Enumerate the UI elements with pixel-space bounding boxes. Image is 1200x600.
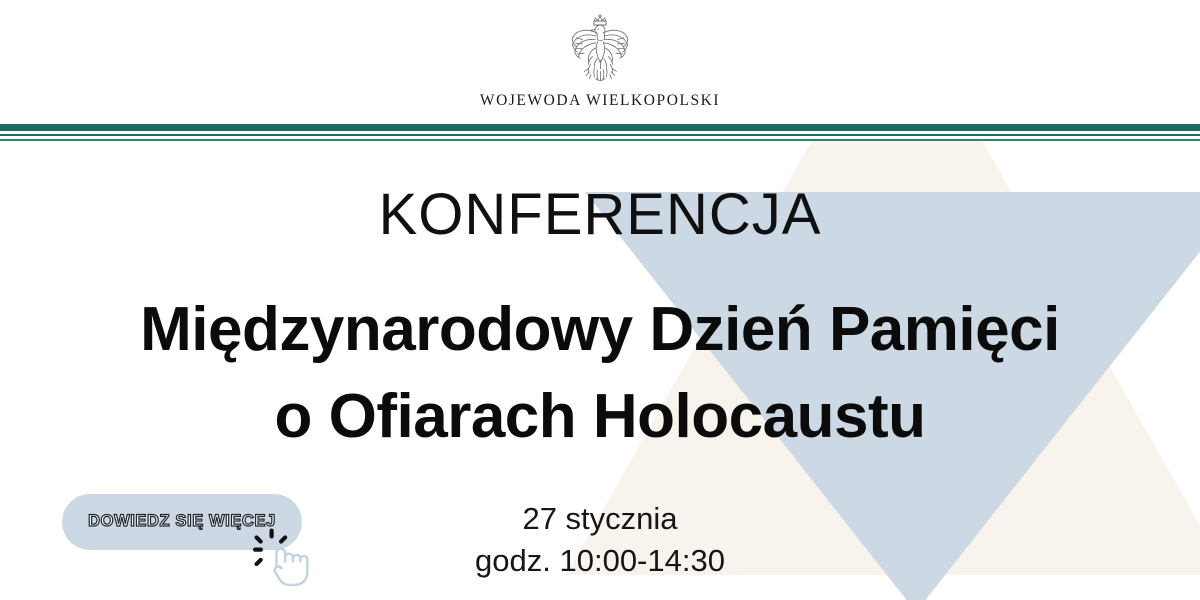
authority-label: WOJEWODA WIELKOPOLSKI (0, 92, 1200, 110)
header: WOJEWODA WIELKOPOLSKI (0, 0, 1200, 124)
learn-more-button-label: DOWIEDZ SIĘ WIĘCEJ (62, 512, 302, 531)
event-title-line-1: Międzynarodowy Dzień Pamięci (0, 283, 1200, 376)
event-title-line-2: o Ofiarach Holocaustu (0, 370, 1200, 463)
green-divider-rules (0, 124, 1200, 141)
poster-canvas: WOJEWODA WIELKOPOLSKI KONFERENCJA Między… (0, 0, 1200, 600)
event-title: Międzynarodowy Dzień Pamięci o Ofiarach … (0, 283, 1200, 463)
learn-more-button[interactable]: DOWIEDZ SIĘ WIĘCEJ (62, 494, 302, 550)
event-kicker: KONFERENCJA (0, 186, 1200, 244)
emblem-container (0, 12, 1200, 90)
divider-line-thin-2 (0, 139, 1200, 141)
polish-eagle-emblem (554, 12, 646, 90)
divider-line-thick (0, 124, 1200, 131)
